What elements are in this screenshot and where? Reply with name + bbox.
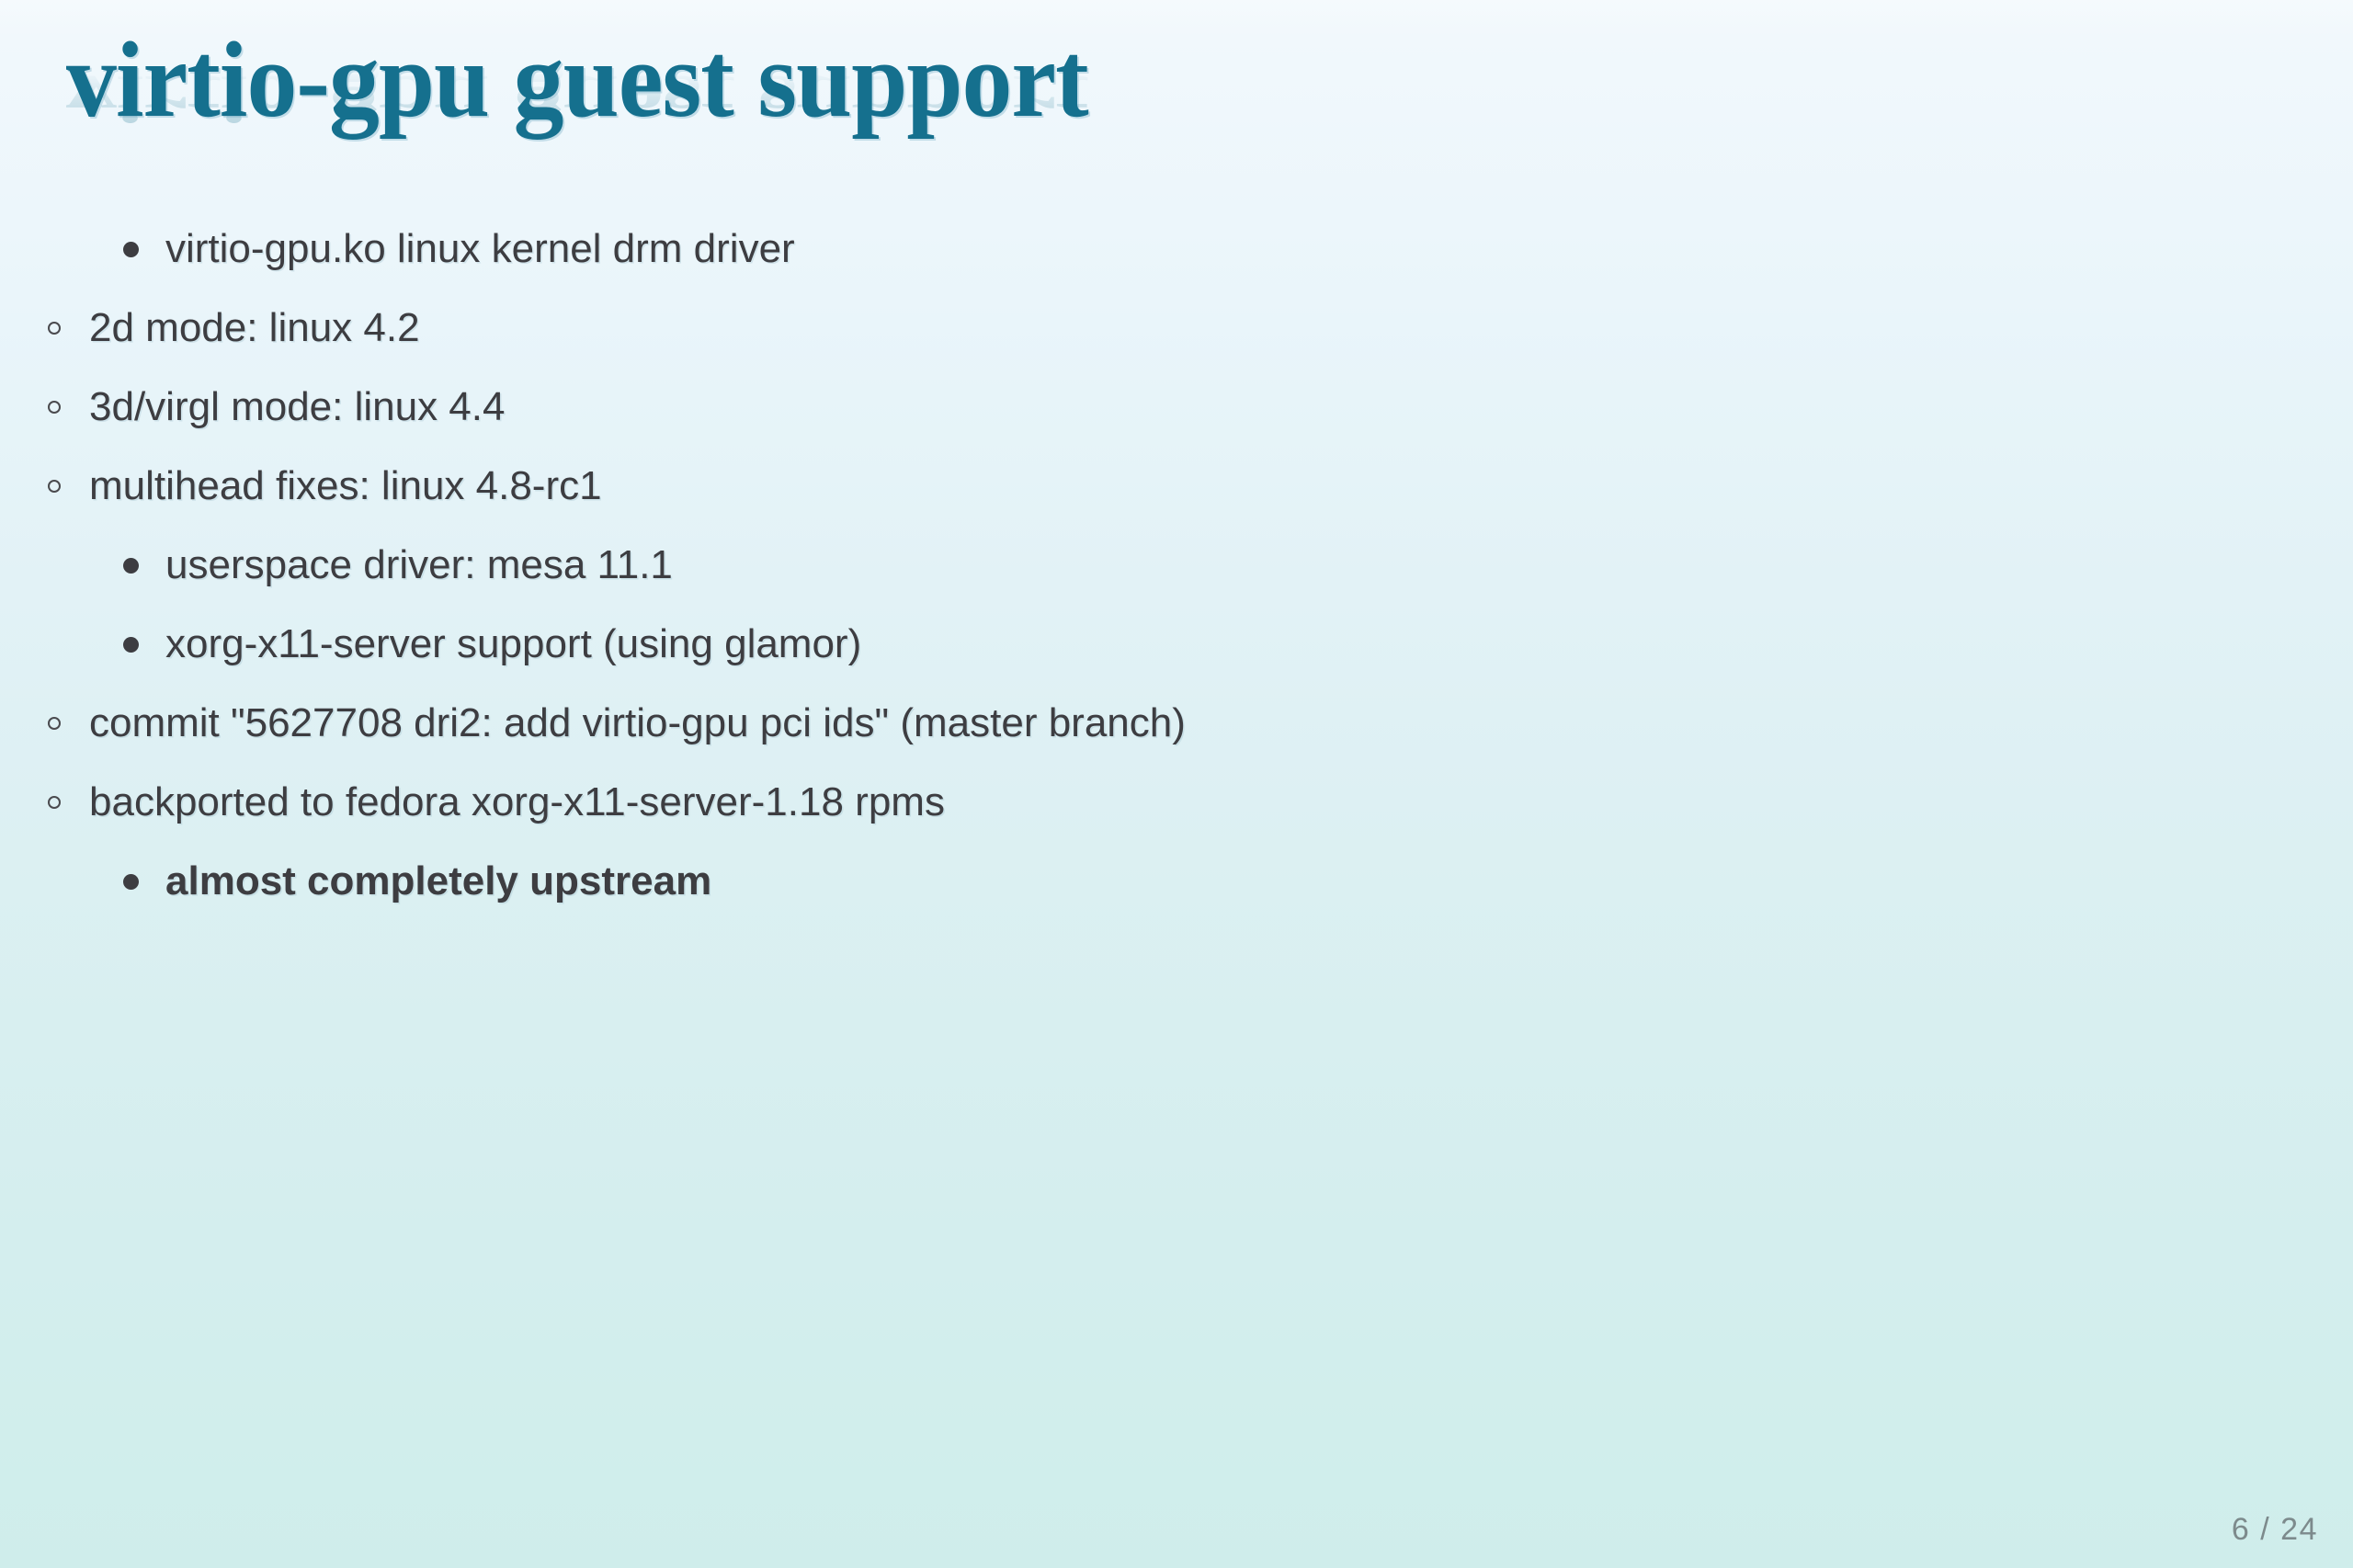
list-item: almost completely upstream	[0, 842, 2206, 921]
list-item: multihead fixes: linux 4.8-rc1	[0, 447, 2206, 526]
list-item: userspace driver: mesa 11.1	[0, 526, 2206, 605]
disc-bullet-icon	[123, 558, 139, 574]
sub-list-container: commit "5627708 dri2: add virtio-gpu pci…	[0, 684, 2206, 842]
list-item-label: multihead fixes: linux 4.8-rc1	[89, 463, 602, 508]
list-item: xorg-x11-server support (using glamor)	[0, 605, 2206, 684]
list-item-label: virtio-gpu.ko linux kernel drm driver	[165, 226, 795, 271]
circle-bullet-icon	[48, 401, 61, 414]
list-item: 3d/virgl mode: linux 4.4	[0, 368, 2206, 447]
presentation-slide: virtio-gpu guest support virtio-gpu gues…	[0, 0, 2353, 1568]
slide-content: virtio-gpu.ko linux kernel drm driver 2d…	[0, 210, 2206, 921]
list-item-label: 3d/virgl mode: linux 4.4	[89, 384, 505, 429]
bullet-list-level2: 2d mode: linux 4.2 3d/virgl mode: linux …	[0, 289, 2206, 526]
disc-bullet-icon	[123, 874, 139, 890]
list-item-label: backported to fedora xorg-x11-server-1.1…	[89, 779, 945, 824]
list-item-label: xorg-x11-server support (using glamor)	[165, 621, 861, 666]
circle-bullet-icon	[48, 717, 61, 730]
circle-bullet-icon	[48, 796, 61, 809]
bullet-list-level2: commit "5627708 dri2: add virtio-gpu pci…	[0, 684, 2206, 842]
sub-list-container: 2d mode: linux 4.2 3d/virgl mode: linux …	[0, 289, 2206, 526]
list-item-label: almost completely upstream	[165, 858, 711, 903]
page-title: virtio-gpu guest support	[66, 26, 2032, 134]
bullet-list-level1: virtio-gpu.ko linux kernel drm driver 2d…	[0, 210, 2206, 921]
list-item-label: userspace driver: mesa 11.1	[165, 542, 673, 587]
circle-bullet-icon	[48, 480, 61, 493]
page-number-indicator: 6 / 24	[2232, 1512, 2318, 1548]
list-item: backported to fedora xorg-x11-server-1.1…	[0, 763, 2206, 842]
list-item: 2d mode: linux 4.2	[0, 289, 2206, 368]
disc-bullet-icon	[123, 637, 139, 653]
slide-title-block: virtio-gpu guest support virtio-gpu gues…	[66, 26, 2180, 200]
list-item-label: 2d mode: linux 4.2	[89, 305, 420, 350]
list-item: commit "5627708 dri2: add virtio-gpu pci…	[0, 684, 2206, 763]
list-item-label: commit "5627708 dri2: add virtio-gpu pci…	[89, 700, 1186, 745]
circle-bullet-icon	[48, 322, 61, 335]
disc-bullet-icon	[123, 242, 139, 257]
list-item: virtio-gpu.ko linux kernel drm driver	[0, 210, 2206, 289]
